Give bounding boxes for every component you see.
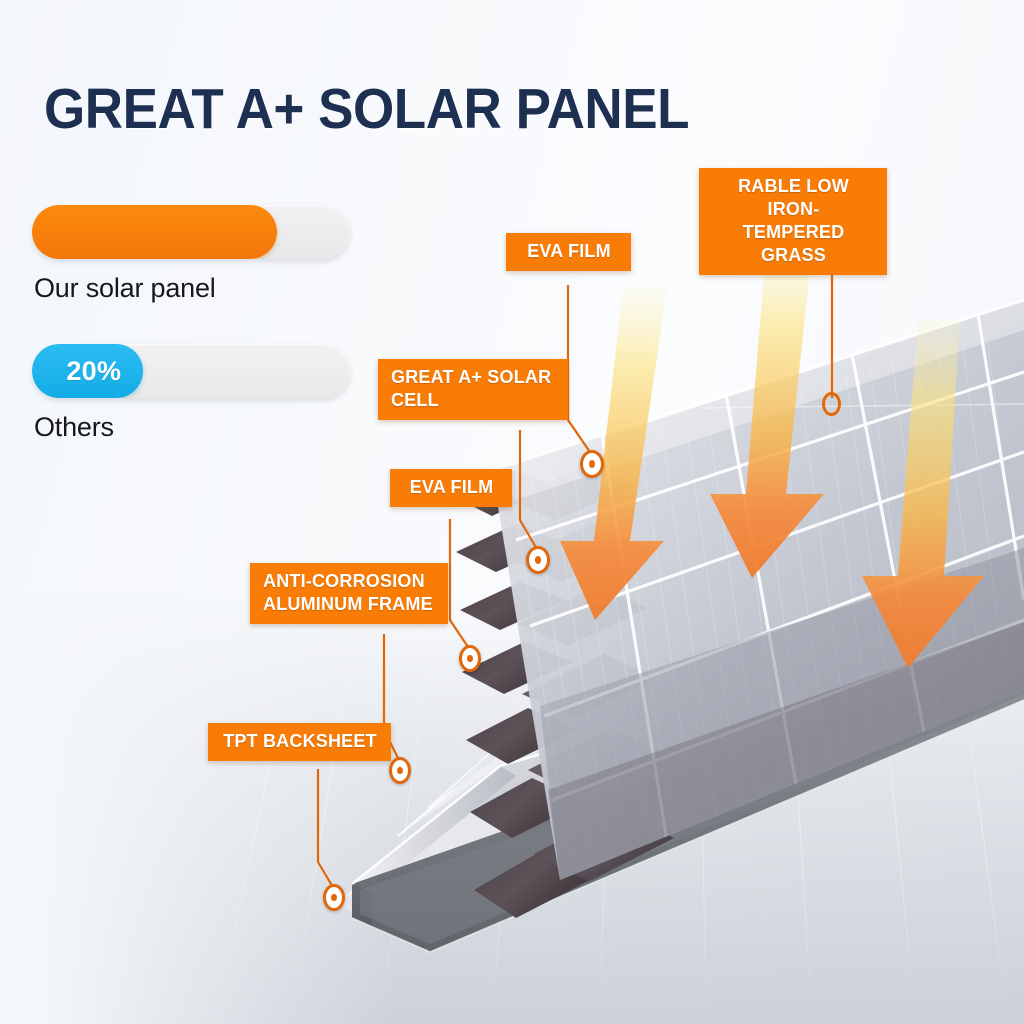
page-title: GREAT A+ SOLAR PANEL <box>44 76 689 142</box>
callout-tempered-glass[interactable]: RABLE LOW IRON- TEMPERED GRASS <box>699 168 887 275</box>
progress-percent-label: 20% <box>66 356 121 387</box>
marker-aluminum-frame[interactable] <box>389 757 411 784</box>
callout-eva-film-top[interactable]: EVA FILM <box>506 233 631 271</box>
callout-eva-film-bottom[interactable]: EVA FILM <box>390 469 512 507</box>
target-icon <box>389 757 411 784</box>
marker-solar-cell[interactable] <box>526 546 550 574</box>
target-icon <box>580 450 604 478</box>
target-icon <box>323 884 345 911</box>
marker-tempered-glass[interactable] <box>822 392 841 416</box>
comparison-bars: Our solar panel 20% Others <box>32 205 354 483</box>
progress-track[interactable]: 20% <box>32 344 350 398</box>
marker-eva-film-bottom[interactable] <box>459 645 481 672</box>
progress-track[interactable] <box>32 205 350 259</box>
callout-solar-cell[interactable]: GREAT A+ SOLAR CELL <box>378 359 568 420</box>
progress-fill-blue: 20% <box>32 344 143 398</box>
progress-caption: Others <box>34 412 354 443</box>
progress-caption: Our solar panel <box>34 273 354 304</box>
infographic-canvas: GREAT A+ SOLAR PANEL Our solar panel 20%… <box>0 0 1024 1024</box>
comparison-bar-our-solar-panel: Our solar panel <box>32 205 354 304</box>
progress-fill-orange <box>32 205 277 259</box>
target-icon <box>526 546 550 574</box>
target-icon <box>822 392 841 416</box>
comparison-bar-others: 20% Others <box>32 344 354 443</box>
callout-tpt-backsheet[interactable]: TPT BACKSHEET <box>208 723 391 761</box>
callout-aluminum-frame[interactable]: ANTI-CORROSION ALUMINUM FRAME <box>250 563 448 624</box>
marker-tpt-backsheet[interactable] <box>323 884 345 911</box>
target-icon <box>459 645 481 672</box>
background-floor-fade <box>0 594 420 1024</box>
marker-eva-film-top[interactable] <box>580 450 604 478</box>
